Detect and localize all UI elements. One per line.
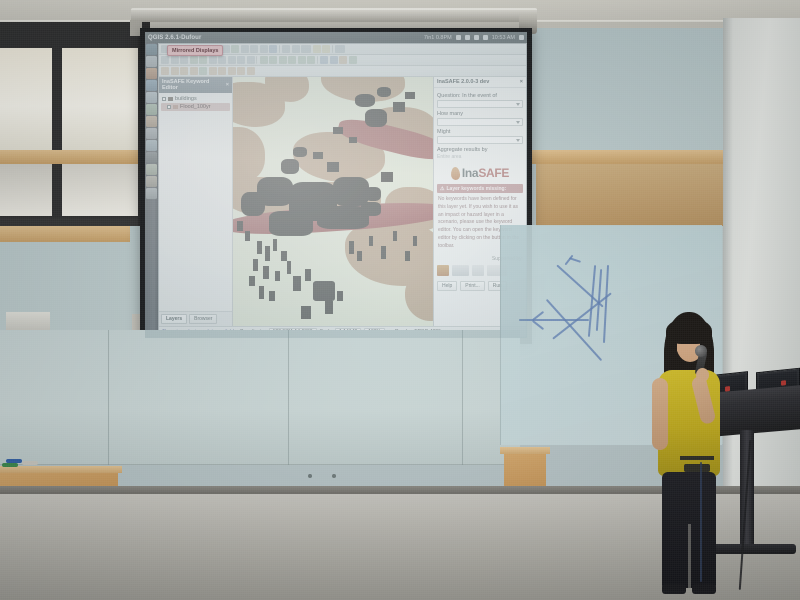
ausaid-logo	[472, 265, 484, 276]
plugin-5-icon[interactable]	[209, 67, 217, 75]
toolbar-separator	[256, 56, 258, 64]
layer-item-buildings[interactable]: buildings	[161, 95, 230, 103]
whiteboard-bolt	[308, 474, 312, 478]
inasafe-wordmark: InaSAFE	[462, 166, 509, 180]
measure-icon[interactable]	[250, 45, 258, 53]
layer-symbol-swatch	[173, 105, 178, 109]
window-pane	[62, 48, 140, 154]
marker-pen[interactable]	[6, 459, 22, 463]
inasafe-title-bar[interactable]: InaSAFE 2.0.0-3 dev ×	[434, 77, 526, 88]
warning-triangle-icon: ⚠	[440, 186, 444, 192]
window-sill	[0, 218, 150, 226]
map-tips-icon[interactable]	[335, 45, 345, 53]
whiteboard-seam	[288, 330, 289, 465]
marker-pen[interactable]	[22, 461, 38, 465]
terminal-icon[interactable]	[146, 152, 157, 163]
plugin-4-icon[interactable]	[199, 67, 207, 75]
warning-banner: ⚠ Layer keywords missing:	[437, 184, 523, 193]
new-bookmark-icon[interactable]	[313, 45, 321, 53]
software-center-icon[interactable]	[146, 116, 157, 127]
might-label: Might	[437, 129, 523, 135]
split-icon[interactable]	[209, 56, 217, 64]
italic-icon[interactable]	[171, 56, 179, 64]
layers-panel: InaSAFE Keyword Editor × buildings	[159, 77, 233, 326]
thunderbird-icon[interactable]	[146, 80, 157, 91]
redo-icon[interactable]	[330, 56, 338, 64]
question-label: Question: In the event of	[437, 93, 523, 99]
libreoffice-calc-icon[interactable]	[146, 104, 157, 115]
inasafe-title: InaSAFE 2.0.0-3 dev	[437, 79, 489, 85]
marker-stroke	[603, 265, 609, 343]
table-icon[interactable]	[180, 56, 188, 64]
presenter	[648, 312, 732, 600]
plugin-6-icon[interactable]	[218, 67, 226, 75]
layers-tree[interactable]: buildings Flood_100yr	[159, 93, 232, 311]
warning-title: Layer keywords missing:	[446, 186, 506, 192]
show-bookmarks-icon[interactable]	[322, 45, 330, 53]
leg-gap	[688, 524, 691, 588]
bluetooth-icon[interactable]	[465, 35, 470, 40]
chevron-down-icon[interactable]	[516, 121, 520, 124]
marker-stroke	[546, 299, 602, 361]
plugin-3-icon[interactable]	[190, 67, 198, 75]
plugin-7-icon[interactable]	[228, 67, 236, 75]
simplify-icon[interactable]	[279, 56, 287, 64]
microphone-cable	[700, 462, 702, 582]
layer-label: buildings	[175, 96, 197, 102]
projector-screen-roller	[131, 8, 537, 22]
laptop-logo	[781, 380, 786, 386]
qgis-icon[interactable]	[146, 164, 157, 175]
tab-browser[interactable]: Browser	[189, 314, 217, 324]
right-desk-top	[500, 447, 550, 454]
toolbar-separator	[317, 56, 319, 64]
add-ring-icon[interactable]	[288, 56, 296, 64]
bold-icon[interactable]	[161, 56, 169, 64]
tab-layers[interactable]: Layers	[161, 314, 187, 324]
how-many-label: How many	[437, 111, 523, 117]
cut-icon[interactable]	[228, 56, 236, 64]
wall-cabinet	[536, 164, 724, 226]
window-wall	[0, 22, 150, 222]
microphone-head	[695, 345, 707, 357]
files-icon[interactable]	[146, 56, 157, 67]
room-scene: QGIS 2.6.1-Dufour 7in1 0.8PM 10:53 AM	[0, 0, 800, 600]
rotate-icon[interactable]	[269, 56, 277, 64]
toolbar-separator	[332, 45, 334, 53]
plugin-2-icon[interactable]	[180, 67, 188, 75]
marker-arrowhead	[569, 257, 581, 263]
label-icon[interactable]	[301, 45, 311, 53]
whiteboard-panel	[0, 330, 520, 465]
marker-arrowhead	[532, 320, 544, 330]
wall-ledge	[508, 150, 724, 164]
left-arm	[652, 378, 668, 450]
flame-icon	[450, 166, 460, 180]
text-annotation-icon[interactable]	[292, 45, 300, 53]
projected-desktop: QGIS 2.6.1-Dufour 7in1 0.8PM 10:53 AM	[145, 32, 527, 338]
aggregate-label: Aggregate results by	[437, 147, 523, 153]
plugin-8-icon[interactable]	[237, 67, 245, 75]
brand-prefix: Ina	[462, 166, 478, 180]
marker-stroke	[556, 265, 603, 308]
exposure-combo[interactable]	[437, 118, 523, 126]
unity-top-panel[interactable]: QGIS 2.6.1-Dufour 7in1 0.8PM 10:53 AM	[145, 32, 527, 43]
libreoffice-writer-icon[interactable]	[146, 92, 157, 103]
wall-ledge	[0, 226, 130, 242]
impact-combo[interactable]	[437, 136, 523, 144]
qgis-workspace: InaSAFE Keyword Editor × buildings	[159, 77, 526, 326]
layers-panel-title: InaSAFE Keyword Editor	[162, 79, 226, 91]
projection-surface: QGIS 2.6.1-Dufour 7in1 0.8PM 10:53 AM	[145, 32, 527, 338]
qgis-toolbar-row-3[interactable]	[159, 66, 526, 77]
layer-symbol-swatch	[168, 97, 173, 101]
help-icon[interactable]	[146, 140, 157, 151]
whiteboard-seam	[462, 330, 463, 465]
window-pane	[0, 48, 52, 154]
buildings-layer	[233, 77, 433, 326]
add-part-icon[interactable]	[298, 56, 306, 64]
mirrored-displays-tooltip: Mirrored Displays	[167, 45, 223, 56]
inasafe-icon[interactable]	[161, 67, 169, 75]
window-title: QGIS 2.6.1-Dufour	[148, 35, 201, 41]
identify-icon[interactable]	[241, 45, 249, 53]
indicator-text[interactable]: 7in1 0.8PM	[424, 35, 452, 41]
zoom-next-icon[interactable]	[231, 45, 239, 53]
trash-icon[interactable]	[146, 188, 157, 199]
envelope-icon[interactable]	[456, 35, 461, 40]
node-tool-icon[interactable]	[218, 56, 226, 64]
brand-suffix: SAFE	[478, 166, 509, 180]
layer-item-flood[interactable]: Flood_100yr	[161, 103, 230, 111]
left-desk-top	[0, 466, 122, 473]
help-button[interactable]: Help	[437, 281, 457, 291]
aggregate-value[interactable]: Entire area	[437, 154, 523, 160]
gimp-icon[interactable]	[146, 176, 157, 187]
projector-screen: QGIS 2.6.1-Dufour 7in1 0.8PM 10:53 AM	[140, 28, 532, 344]
window-pane	[0, 162, 52, 216]
window-pane	[62, 162, 140, 216]
open-attribute-icon[interactable]	[349, 56, 357, 64]
layers-panel-title-bar[interactable]: InaSAFE Keyword Editor ×	[159, 77, 232, 93]
whiteboard-seam	[108, 330, 109, 465]
toolbar-separator	[279, 45, 281, 53]
chevron-down-icon[interactable]	[516, 139, 520, 142]
undo-icon[interactable]	[320, 56, 328, 64]
delete-icon[interactable]	[260, 56, 268, 64]
desktop-body: InaSAFE Keyword Editor × buildings	[145, 43, 527, 338]
unity-launcher[interactable]	[145, 43, 158, 338]
layer-label: Flood_100yr	[180, 104, 211, 110]
hazard-combo[interactable]	[437, 100, 523, 108]
close-icon[interactable]: ×	[226, 82, 229, 88]
map-rendered-layers	[233, 77, 433, 326]
plugin-1-icon[interactable]	[171, 67, 179, 75]
annotation-icon[interactable]	[282, 45, 290, 53]
wall-ledge	[0, 150, 138, 164]
close-icon[interactable]: ×	[520, 79, 523, 85]
select-icon[interactable]	[260, 45, 268, 53]
network-icon[interactable]	[474, 35, 479, 40]
layer-visibility-checkbox[interactable]	[167, 105, 171, 109]
system-settings-icon[interactable]	[146, 128, 157, 139]
layers-panel-tabs[interactable]: Layers Browser	[159, 311, 232, 326]
layer-visibility-checkbox[interactable]	[162, 97, 166, 101]
map-canvas[interactable]	[233, 77, 433, 326]
clock-label[interactable]: 10:53 AM	[492, 35, 515, 41]
qgis-toolbar-row-2[interactable]	[159, 55, 526, 66]
print-button[interactable]: Print...	[460, 281, 484, 291]
copy-icon[interactable]	[237, 56, 245, 64]
inasafe-logo: InaSAFE	[437, 166, 523, 180]
hand	[696, 368, 709, 382]
whiteboard-bolt	[332, 474, 336, 478]
shoe-right	[692, 584, 716, 594]
australian-aid-logo	[452, 265, 469, 276]
merge-icon[interactable]	[199, 56, 207, 64]
refresh-icon[interactable]	[269, 45, 277, 53]
fill-ring-icon[interactable]	[307, 56, 315, 64]
marker-stroke	[519, 319, 589, 321]
field-calculator-icon[interactable]	[190, 56, 198, 64]
bnpb-safe-logo	[437, 265, 449, 276]
chevron-down-icon[interactable]	[516, 103, 520, 106]
shoe-left	[662, 584, 686, 594]
power-icon[interactable]	[519, 35, 524, 40]
volume-icon[interactable]	[483, 35, 488, 40]
paste-icon[interactable]	[247, 56, 255, 64]
firefox-icon[interactable]	[146, 68, 157, 79]
save-edits-icon[interactable]	[339, 56, 347, 64]
plugin-9-icon[interactable]	[247, 67, 255, 75]
qgis-window: InaSAFE Keyword Editor × buildings	[158, 43, 527, 338]
dash-home-icon[interactable]	[146, 44, 157, 55]
marker-pen[interactable]	[2, 463, 18, 467]
